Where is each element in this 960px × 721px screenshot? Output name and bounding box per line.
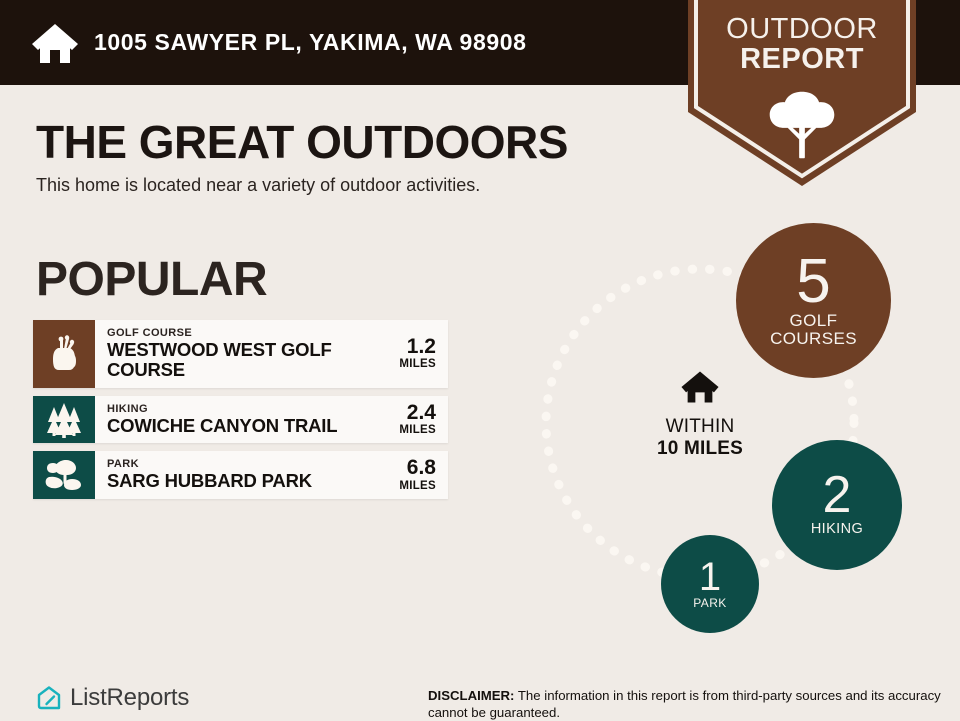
- listreports-logo-text: ListReports: [70, 684, 189, 712]
- disclaimer: DISCLAIMER: The information in this repo…: [428, 688, 948, 721]
- diagram-center-node: WITHIN 10 MILES: [640, 370, 760, 460]
- distance-value: 6.8: [407, 457, 436, 479]
- property-address: 1005 SAWYER PL, YAKIMA, WA 98908: [94, 29, 527, 56]
- stat-count: 5: [796, 253, 830, 310]
- stat-count: 2: [823, 472, 852, 520]
- list-item[interactable]: PARK SARG HUBBARD PARK 6.8 MILES: [33, 451, 448, 498]
- golf-bag-icon: [33, 320, 95, 388]
- distance-unit: MILES: [399, 424, 436, 437]
- page-subtitle: This home is located near a variety of o…: [36, 175, 480, 196]
- stat-circle-golf-courses[interactable]: 5 GOLF COURSES: [736, 223, 891, 378]
- list-item-body: HIKING COWICHE CANYON TRAIL: [95, 396, 374, 443]
- proximity-diagram: 5 GOLF COURSES 2 HIKING 1 PARK WITHIN 10…: [540, 190, 960, 650]
- listreports-house-icon: [36, 685, 62, 712]
- stat-label: GOLF COURSES: [770, 312, 857, 348]
- stat-label-line-1: GOLF: [770, 312, 857, 330]
- list-item-body: PARK SARG HUBBARD PARK: [95, 451, 374, 498]
- popular-heading: POPULAR: [36, 252, 267, 307]
- outdoor-report-badge: OUTDOOR REPORT: [688, 0, 916, 186]
- list-item[interactable]: HIKING COWICHE CANYON TRAIL 2.4 MILES: [33, 396, 448, 443]
- list-item-name: WESTWOOD WEST GOLF COURSE: [107, 340, 370, 381]
- list-item-name: COWICHE CANYON TRAIL: [107, 416, 370, 437]
- center-label-line-1: WITHIN: [640, 417, 760, 438]
- list-item-body: GOLF COURSE WESTWOOD WEST GOLF COURSE: [95, 320, 374, 388]
- stat-count: 1: [699, 559, 721, 596]
- distance-value: 1.2: [407, 336, 436, 358]
- home-icon: [30, 18, 80, 68]
- distance-unit: MILES: [399, 358, 436, 371]
- center-label-line-2: 10 MILES: [640, 438, 760, 460]
- list-item-distance: 6.8 MILES: [374, 451, 448, 498]
- list-item-distance: 2.4 MILES: [374, 396, 448, 443]
- list-item[interactable]: GOLF COURSE WESTWOOD WEST GOLF COURSE 1.…: [33, 320, 448, 388]
- popular-list: GOLF COURSE WESTWOOD WEST GOLF COURSE 1.…: [33, 320, 448, 507]
- badge-line-1: OUTDOOR: [688, 14, 916, 44]
- distance-value: 2.4: [407, 402, 436, 424]
- stat-label: HIKING: [811, 522, 863, 537]
- distance-unit: MILES: [399, 480, 436, 493]
- list-item-distance: 1.2 MILES: [374, 320, 448, 388]
- list-item-category: HIKING: [107, 403, 370, 416]
- stat-label-line-2: COURSES: [770, 330, 857, 348]
- listreports-logo[interactable]: ListReports: [36, 684, 189, 712]
- disclaimer-label: DISCLAIMER:: [428, 688, 514, 703]
- list-item-name: SARG HUBBARD PARK: [107, 471, 370, 492]
- stat-circle-park[interactable]: 1 PARK: [661, 535, 759, 633]
- page-title: THE GREAT OUTDOORS: [36, 115, 568, 169]
- stat-circle-hiking[interactable]: 2 HIKING: [772, 440, 902, 570]
- park-tree-path-icon: [33, 451, 95, 498]
- badge-line-2: REPORT: [688, 44, 916, 74]
- badge-text: OUTDOOR REPORT: [688, 14, 916, 74]
- stat-label: PARK: [693, 597, 726, 610]
- list-item-category: GOLF COURSE: [107, 327, 370, 340]
- home-icon: [640, 370, 760, 409]
- pine-trees-icon: [33, 396, 95, 443]
